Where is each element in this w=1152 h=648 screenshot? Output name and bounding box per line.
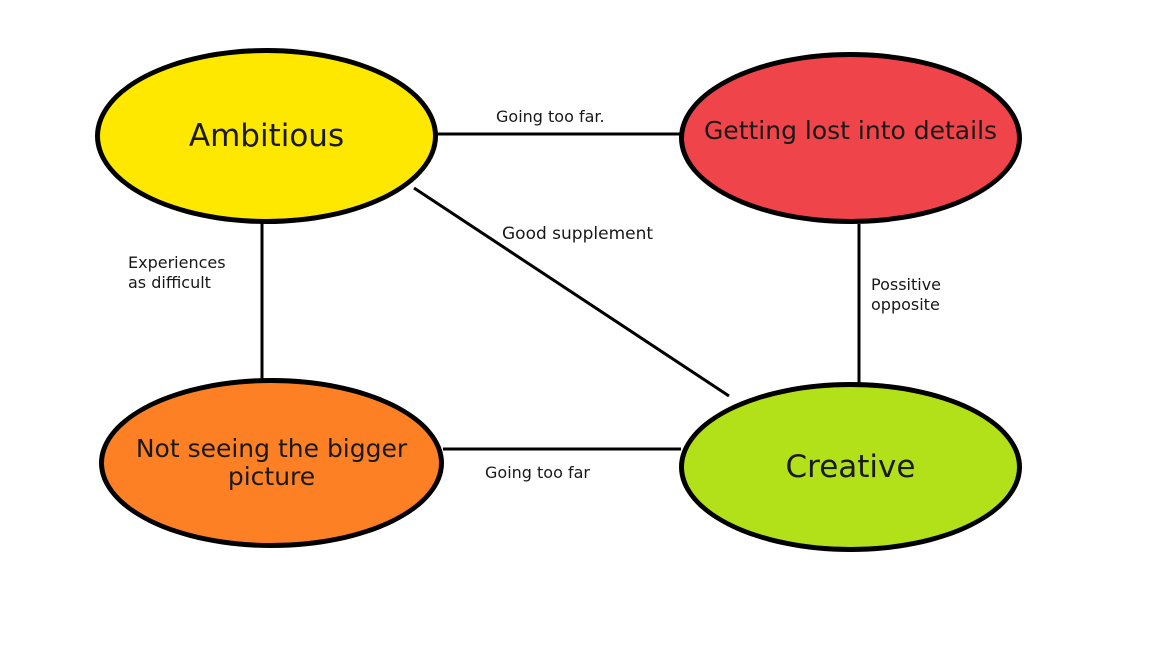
node-not-seeing-the-bigger-picture-label: Not seeing the bigger picture — [114, 435, 429, 491]
edge-label-ambitious-creative: Good supplement — [502, 224, 653, 246]
node-not-seeing-the-bigger-picture[interactable]: Not seeing the bigger picture — [99, 378, 444, 548]
node-getting-lost-into-details[interactable]: Getting lost into details — [679, 52, 1022, 224]
node-ambitious-label: Ambitious — [110, 119, 423, 154]
edge-label-ambitious-details: Going too far. — [496, 107, 605, 127]
edge-label-details-creative: Possitive opposite — [871, 275, 941, 316]
edge-ambitious-creative[interactable] — [414, 188, 729, 396]
node-getting-lost-into-details-label: Getting lost into details — [694, 117, 1007, 145]
edge-label-ambitious-bigger: Experiences as difficult — [128, 253, 226, 294]
node-creative[interactable]: Creative — [679, 382, 1022, 552]
node-ambitious[interactable]: Ambitious — [95, 48, 438, 224]
node-creative-label: Creative — [694, 450, 1007, 485]
edge-label-bigger-creative: Going too far — [485, 463, 590, 483]
diagram-canvas: Ambitious Getting lost into details Not … — [0, 0, 1152, 648]
